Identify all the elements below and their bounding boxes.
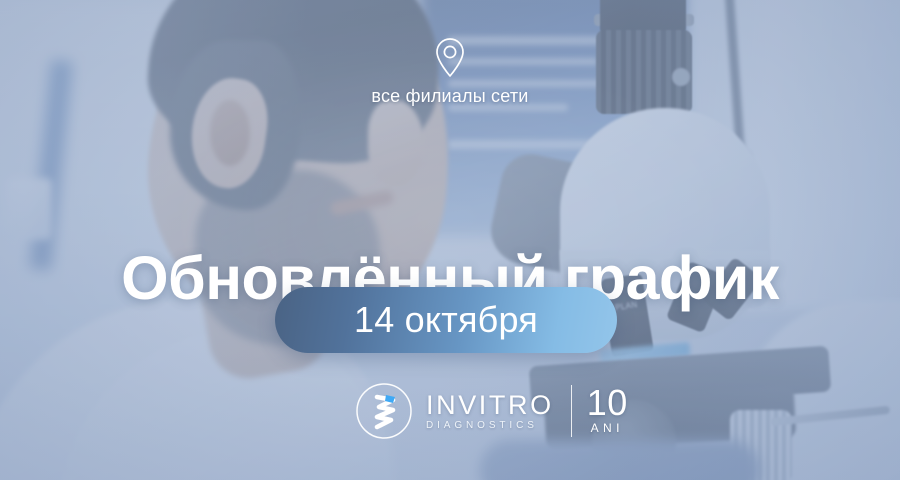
invitro-logo: INVITRO DIAGNOSTICS 10 ANI <box>355 380 628 442</box>
promo-banner: PLAN все филиалы сети Обновлённый график… <box>0 0 900 480</box>
invitro-dna-emblem-icon <box>355 382 413 440</box>
invitro-wordmark: INVITRO DIAGNOSTICS <box>426 386 554 436</box>
invitro-subtitle: DIAGNOSTICS <box>426 419 554 432</box>
location-badge: все филиалы сети <box>0 36 900 107</box>
date-button-label: 14 октября <box>354 299 538 341</box>
map-pin-icon <box>432 36 468 80</box>
anniversary-mark: 10 ANI <box>587 383 628 439</box>
anniversary-word: ANI <box>591 420 624 436</box>
logo-divider <box>571 385 572 437</box>
invitro-name: INVITRO <box>426 391 554 419</box>
date-button[interactable]: 14 октября <box>275 287 617 353</box>
location-badge-label: все филиалы сети <box>371 86 528 107</box>
banner-content: все филиалы сети Обновлённый график 14 о… <box>0 0 900 480</box>
anniversary-number: 10 <box>587 386 628 420</box>
